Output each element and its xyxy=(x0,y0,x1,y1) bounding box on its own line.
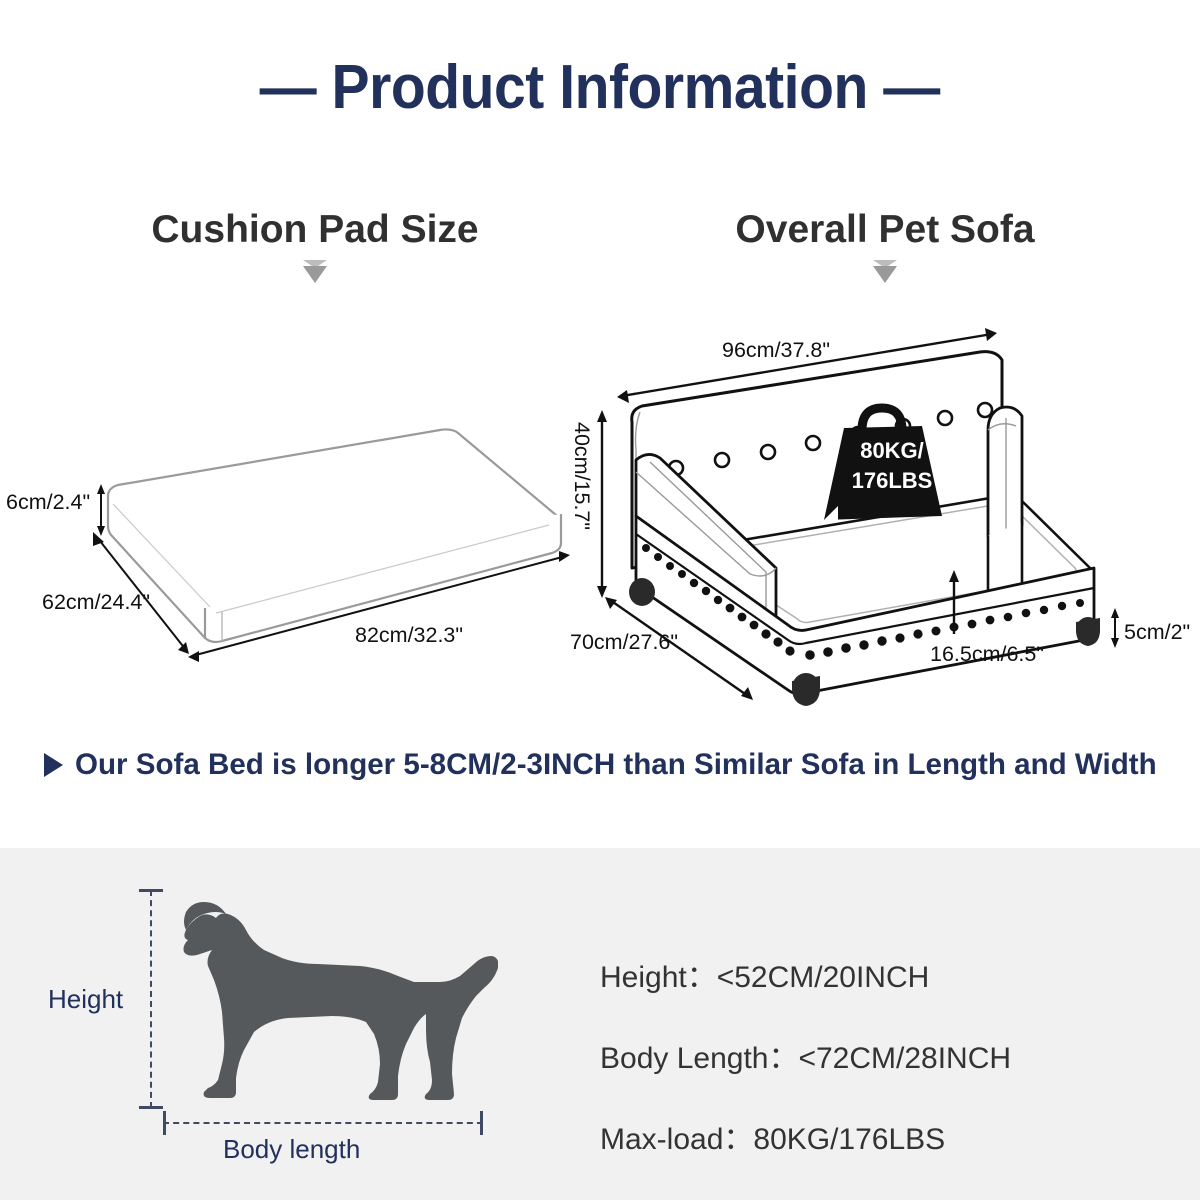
double-chevron-down-icon xyxy=(868,260,902,286)
page-title: — Product Information — xyxy=(0,52,1200,123)
sofa-foot-height-label: 5cm/2" xyxy=(1124,620,1190,645)
sofa-length-label: 96cm/37.8" xyxy=(722,338,830,363)
cushion-length-label: 82cm/32.3" xyxy=(355,623,463,648)
cushion-width-label: 62cm/24.4" xyxy=(42,590,150,615)
dog-measurement-diagram: Height Body length xyxy=(120,872,540,1162)
body-length-cap-left xyxy=(163,1111,166,1135)
section-heading-sofa-label: Overall Pet Sofa xyxy=(675,208,1095,252)
spec-height: Height：<52CM/20INCH xyxy=(600,952,1160,996)
body-length-measure-line xyxy=(163,1122,483,1124)
cushion-thickness-label: 6cm/2.4" xyxy=(6,490,90,515)
product-information-page: — Product Information — Cushion Pad Size… xyxy=(0,0,1200,1200)
page-title-text: — Product Information — xyxy=(260,52,940,123)
sofa-depth-label: 70cm/27.6" xyxy=(570,630,678,655)
section-heading-cushion-label: Cushion Pad Size xyxy=(105,208,525,252)
cushion-pad-diagram: 6cm/2.4" 62cm/24.4" 82cm/32.3" xyxy=(0,408,580,693)
section-heading-cushion: Cushion Pad Size xyxy=(105,208,525,286)
highlight-banner: Our Sofa Bed is longer 5-8CM/2-3INCH tha… xyxy=(44,748,1174,782)
height-measure-cap-top xyxy=(139,889,163,892)
pet-sofa-illustration xyxy=(570,300,1200,720)
section-heading-sofa: Overall Pet Sofa xyxy=(675,208,1095,286)
dog-spec-list: Height：<52CM/20INCH Body Length：<72CM/28… xyxy=(600,952,1160,1158)
double-chevron-down-icon xyxy=(298,260,332,286)
weight-tag-line1: 80KG/ xyxy=(842,436,942,466)
spec-max-load: Max-load：80KG/176LBS xyxy=(600,1114,1160,1158)
dog-silhouette-icon xyxy=(168,872,498,1122)
height-measure-line xyxy=(150,890,152,1108)
triangle-right-icon xyxy=(44,753,63,777)
pet-sofa-diagram: 80KG/ 176LBS 96cm/37.8" 40cm/15.7" 70cm/… xyxy=(570,300,1200,725)
body-length-measure-label: Body length xyxy=(223,1134,360,1165)
sofa-height-label: 40cm/15.7" xyxy=(569,422,594,530)
height-measure-label: Height xyxy=(48,984,123,1015)
cushion-pad-illustration xyxy=(0,408,580,688)
max-load-weight-tag: 80KG/ 176LBS xyxy=(842,436,942,496)
weight-tag-line2: 176LBS xyxy=(842,466,942,496)
highlight-banner-text: Our Sofa Bed is longer 5-8CM/2-3INCH tha… xyxy=(75,748,1157,782)
height-measure-cap-bottom xyxy=(139,1106,163,1109)
sofa-seat-height-label: 16.5cm/6.5" xyxy=(930,642,1044,667)
spec-body-length: Body Length：<72CM/28INCH xyxy=(600,1033,1160,1077)
